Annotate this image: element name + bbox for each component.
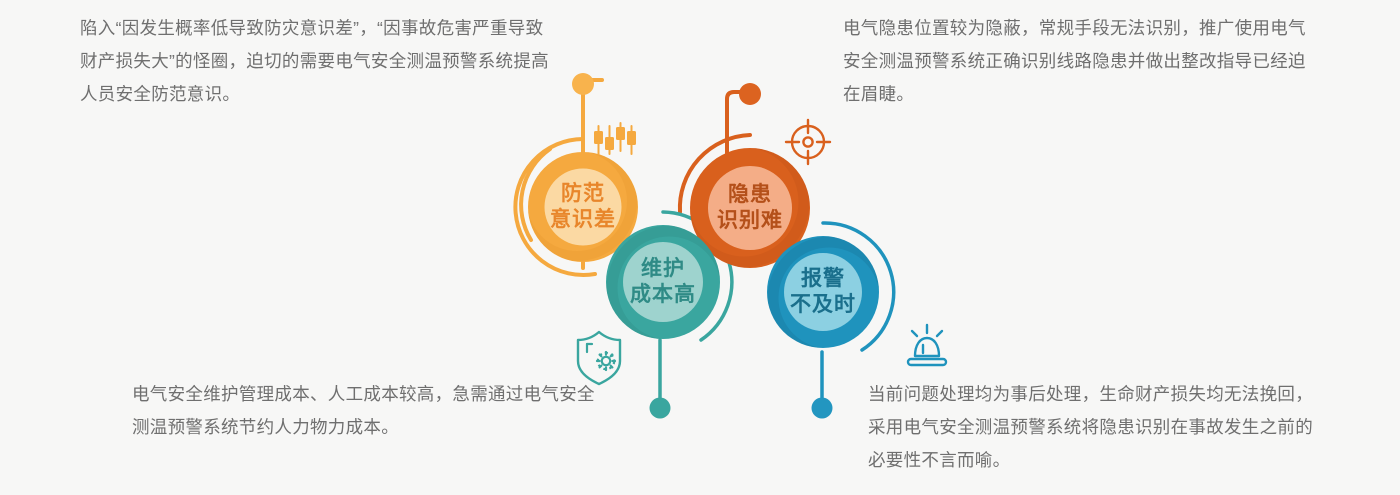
paragraph-prevention: 陷入“因发生概率低导致防灾意识差”，“因事故危害严重导致财产损失大”的怪圈，迫切… bbox=[80, 12, 550, 111]
connector-dot-prevention bbox=[572, 73, 594, 95]
crosshair-target-icon bbox=[786, 120, 830, 164]
infographic-canvas: 陷入“因发生概率低导致防灾意识差”，“因事故危害严重导致财产损失大”的怪圈，迫切… bbox=[0, 0, 1400, 495]
connector-dot-detection bbox=[739, 83, 761, 105]
node-circle-alarm[interactable] bbox=[767, 236, 885, 354]
equalizer-sliders-icon bbox=[594, 122, 636, 155]
connector-maintenance bbox=[650, 340, 671, 419]
connector-alarm bbox=[812, 352, 833, 419]
paragraph-maintenance: 电气安全维护管理成本、人工成本较高，急需通过电气安全测温预警系统节约人力物力成本… bbox=[132, 378, 602, 444]
alarm-siren-icon bbox=[908, 325, 946, 365]
connector-dot-maintenance bbox=[650, 398, 671, 419]
shield-gear-icon bbox=[578, 332, 620, 384]
paragraph-detection: 电气隐患位置较为隐蔽，常规手段无法识别，推广使用电气安全测温预警系统正确识别线路… bbox=[843, 12, 1308, 111]
connector-dot-alarm bbox=[812, 398, 833, 419]
paragraph-alarm: 当前问题处理均为事后处理，生命财产损失均无法挽回，采用电气安全测温预警系统将隐患… bbox=[868, 378, 1318, 477]
